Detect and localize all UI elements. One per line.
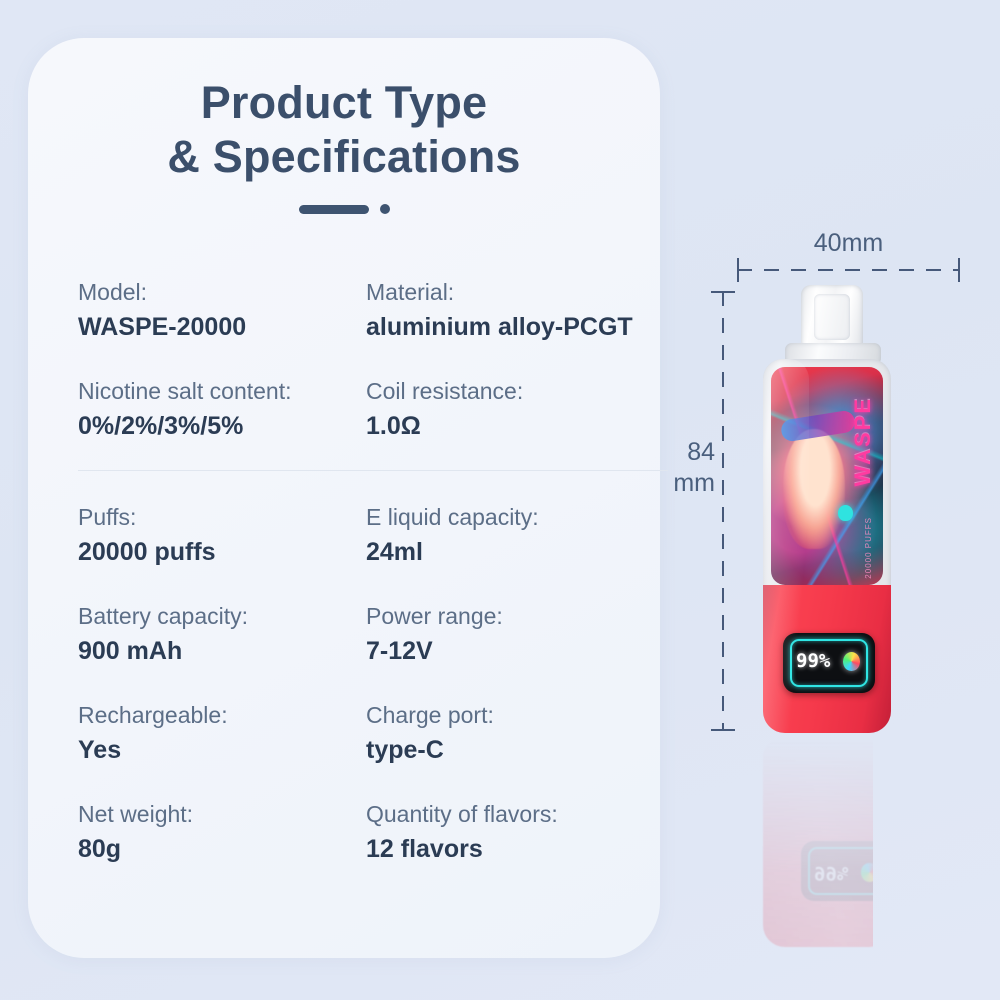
spec-label: Power range: bbox=[366, 602, 654, 631]
page-title-line-2: & Specifications bbox=[28, 130, 660, 184]
droplet-icon bbox=[843, 652, 860, 671]
width-dimension-line bbox=[737, 269, 960, 271]
spec-label: Puffs: bbox=[78, 503, 366, 532]
spec-item-quantity-of-flavors: Quantity of flavors: 12 flavors bbox=[366, 800, 654, 865]
spec-label: Model: bbox=[78, 278, 366, 307]
width-dimension-label: 40mm bbox=[737, 228, 960, 258]
spec-label: Charge port: bbox=[366, 701, 654, 730]
spec-item-material: Material: aluminium alloy-PCGT bbox=[366, 278, 654, 343]
spec-value: 0%/2%/3%/5% bbox=[78, 410, 366, 442]
reflection-percent-readout: 99% bbox=[814, 863, 848, 883]
width-dimension-cap-right bbox=[958, 258, 960, 282]
spec-item-power-range: Power range: 7-12V bbox=[366, 602, 654, 667]
page-background: Product Type & Specifications Model: WAS… bbox=[0, 0, 1000, 1000]
card-header: Product Type & Specifications bbox=[28, 76, 660, 214]
spec-row: Puffs: 20000 puffs E liquid capacity: 24… bbox=[78, 503, 668, 568]
spec-label: Nicotine salt content: bbox=[78, 377, 366, 406]
page-title-line-1: Product Type bbox=[28, 76, 660, 130]
device-led-screen: 99% bbox=[783, 633, 875, 693]
spec-label: Battery capacity: bbox=[78, 602, 366, 631]
spec-item-e-liquid-capacity: E liquid capacity: 24ml bbox=[366, 503, 654, 568]
device-body: WASPE 20000 PUFFS 99% bbox=[763, 359, 891, 733]
device-artwork-window: WASPE 20000 PUFFS bbox=[771, 367, 883, 585]
row-spacer bbox=[78, 343, 668, 377]
brand-wordmark: WASPE bbox=[850, 397, 876, 486]
screen-percent-readout: 99% bbox=[796, 651, 830, 671]
width-dimension-cap-left bbox=[737, 258, 739, 282]
row-spacer bbox=[78, 667, 668, 701]
spec-row: Model: WASPE-20000 Material: aluminium a… bbox=[78, 278, 668, 343]
vape-device-image: WASPE 20000 PUFFS 99% bbox=[745, 285, 873, 733]
height-dimension-label: 84 mm bbox=[655, 437, 715, 499]
height-dimension-value: 84 bbox=[655, 437, 715, 468]
reflection-droplet-icon bbox=[861, 863, 878, 882]
spec-value: 12 flavors bbox=[366, 833, 654, 865]
artwork-accent-dot bbox=[838, 505, 853, 521]
spec-item-puffs: Puffs: 20000 puffs bbox=[78, 503, 366, 568]
height-dimension-cap-bottom bbox=[711, 729, 735, 731]
spec-value: 1.0Ω bbox=[366, 410, 654, 442]
device-lower-body: 99% bbox=[763, 585, 891, 733]
spec-row: Rechargeable: Yes Charge port: type-C bbox=[78, 701, 668, 766]
row-spacer bbox=[78, 568, 668, 602]
spec-label: Quantity of flavors: bbox=[366, 800, 654, 829]
spec-value: 20000 puffs bbox=[78, 536, 366, 568]
spec-value: 80g bbox=[78, 833, 366, 865]
decoration-bar bbox=[299, 205, 369, 214]
spec-label: Net weight: bbox=[78, 800, 366, 829]
spec-item-rechargeable: Rechargeable: Yes bbox=[78, 701, 366, 766]
row-spacer bbox=[78, 471, 668, 503]
spec-label: Material: bbox=[366, 278, 654, 307]
spec-label: Rechargeable: bbox=[78, 701, 366, 730]
spec-value: WASPE-20000 bbox=[78, 311, 366, 343]
artwork-character-face bbox=[783, 429, 845, 549]
row-spacer bbox=[78, 766, 668, 800]
title-divider-decoration bbox=[28, 204, 660, 214]
specifications-card: Product Type & Specifications Model: WAS… bbox=[28, 38, 660, 958]
spec-row: Nicotine salt content: 0%/2%/3%/5% Coil … bbox=[78, 377, 668, 442]
brand-sub-wordmark: 20000 PUFFS bbox=[864, 517, 873, 579]
spec-value: type-C bbox=[366, 734, 654, 766]
device-mouthpiece bbox=[801, 285, 863, 351]
spec-value: aluminium alloy-PCGT bbox=[366, 311, 654, 343]
spec-item-charge-port: Charge port: type-C bbox=[366, 701, 654, 766]
decoration-dot bbox=[380, 204, 390, 214]
spec-label: Coil resistance: bbox=[366, 377, 654, 406]
spec-row: Battery capacity: 900 mAh Power range: 7… bbox=[78, 602, 668, 667]
spec-label: E liquid capacity: bbox=[366, 503, 654, 532]
device-reflection: 99% bbox=[745, 737, 873, 967]
height-dimension-line bbox=[722, 291, 724, 731]
reflection-body: 99% bbox=[763, 737, 891, 947]
specifications-grid: Model: WASPE-20000 Material: aluminium a… bbox=[78, 278, 668, 865]
spec-row: Net weight: 80g Quantity of flavors: 12 … bbox=[78, 800, 668, 865]
spec-item-model: Model: WASPE-20000 bbox=[78, 278, 366, 343]
spec-item-coil-resistance: Coil resistance: 1.0Ω bbox=[366, 377, 654, 442]
height-dimension-cap-top bbox=[711, 291, 735, 293]
height-dimension-unit: mm bbox=[655, 468, 715, 499]
spec-value: 7-12V bbox=[366, 635, 654, 667]
spec-value: Yes bbox=[78, 734, 366, 766]
spec-item-net-weight: Net weight: 80g bbox=[78, 800, 366, 865]
spec-item-battery-capacity: Battery capacity: 900 mAh bbox=[78, 602, 366, 667]
spec-item-nicotine-salt-content: Nicotine salt content: 0%/2%/3%/5% bbox=[78, 377, 366, 442]
spec-value: 900 mAh bbox=[78, 635, 366, 667]
reflection-screen: 99% bbox=[801, 841, 893, 901]
spec-value: 24ml bbox=[366, 536, 654, 568]
